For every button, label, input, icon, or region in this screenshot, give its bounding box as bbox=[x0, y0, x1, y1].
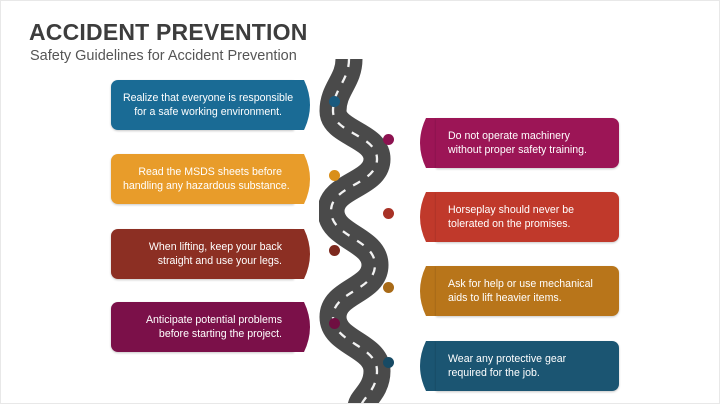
callout-line-1: Anticipate potential problems bbox=[123, 313, 282, 328]
callout-body: Anticipate potential problems before sta… bbox=[111, 302, 294, 352]
callout-body: Do not operate machinery without proper … bbox=[436, 118, 619, 168]
callout-arrow-left-icon bbox=[414, 192, 436, 242]
callout-right-2[interactable]: Horseplay should never be tolerated on t… bbox=[414, 192, 619, 242]
callout-left-1[interactable]: Realize that everyone is responsible for… bbox=[111, 80, 316, 130]
callout-body: Ask for help or use mechanical aids to l… bbox=[436, 266, 619, 316]
callout-left-2[interactable]: Read the MSDS sheets before handling any… bbox=[111, 154, 316, 204]
callout-arrow-right-icon bbox=[294, 229, 316, 279]
callout-line-2: required for the job. bbox=[448, 366, 607, 381]
callout-line-1: Do not operate machinery bbox=[448, 129, 607, 144]
callout-line-1: When lifting, keep your back bbox=[123, 240, 282, 255]
callout-line-1: Read the MSDS sheets before bbox=[123, 165, 282, 180]
callout-arrow-left-icon bbox=[414, 266, 436, 316]
callout-line-2: straight and use your legs. bbox=[123, 254, 282, 269]
callout-body: Read the MSDS sheets before handling any… bbox=[111, 154, 294, 204]
callout-body: When lifting, keep your back straight an… bbox=[111, 229, 294, 279]
slide-canvas: ACCIDENT PREVENTION Safety Guidelines fo… bbox=[0, 0, 720, 404]
callout-line-1: Wear any protective gear bbox=[448, 352, 607, 367]
page-subtitle: Safety Guidelines for Accident Preventio… bbox=[30, 48, 297, 64]
callout-line-1: Realize that everyone is responsible bbox=[123, 91, 282, 106]
callout-line-2: aids to lift heavier items. bbox=[448, 291, 607, 306]
road-dot-left-1 bbox=[329, 96, 340, 107]
callout-right-1[interactable]: Do not operate machinery without proper … bbox=[414, 118, 619, 168]
callout-line-2: before starting the project. bbox=[123, 327, 282, 342]
callout-body: Horseplay should never be tolerated on t… bbox=[436, 192, 619, 242]
road-dot-left-4 bbox=[329, 318, 340, 329]
callout-left-4[interactable]: Anticipate potential problems before sta… bbox=[111, 302, 316, 352]
road-dot-right-2 bbox=[383, 208, 394, 219]
road-dot-right-1 bbox=[383, 134, 394, 145]
callout-arrow-right-icon bbox=[294, 154, 316, 204]
callout-left-3[interactable]: When lifting, keep your back straight an… bbox=[111, 229, 316, 279]
callout-arrow-right-icon bbox=[294, 80, 316, 130]
callout-line-2: for a safe working environment. bbox=[123, 105, 282, 120]
road-dot-left-2 bbox=[329, 170, 340, 181]
callout-body: Realize that everyone is responsible for… bbox=[111, 80, 294, 130]
road-dot-right-3 bbox=[383, 282, 394, 293]
road-dot-left-3 bbox=[329, 245, 340, 256]
callout-body: Wear any protective gear required for th… bbox=[436, 341, 619, 391]
callout-line-2: handling any hazardous substance. bbox=[123, 179, 282, 194]
winding-road-icon bbox=[319, 59, 407, 404]
callout-line-1: Horseplay should never be bbox=[448, 203, 607, 218]
road-dot-right-4 bbox=[383, 357, 394, 368]
callout-right-3[interactable]: Ask for help or use mechanical aids to l… bbox=[414, 266, 619, 316]
callout-right-4[interactable]: Wear any protective gear required for th… bbox=[414, 341, 619, 391]
callout-line-2: without proper safety training. bbox=[448, 143, 607, 158]
callout-arrow-right-icon bbox=[294, 302, 316, 352]
callout-arrow-left-icon bbox=[414, 118, 436, 168]
callout-line-2: tolerated on the promises. bbox=[448, 217, 607, 232]
page-title: ACCIDENT PREVENTION bbox=[29, 19, 308, 46]
callout-arrow-left-icon bbox=[414, 341, 436, 391]
callout-line-1: Ask for help or use mechanical bbox=[448, 277, 607, 292]
